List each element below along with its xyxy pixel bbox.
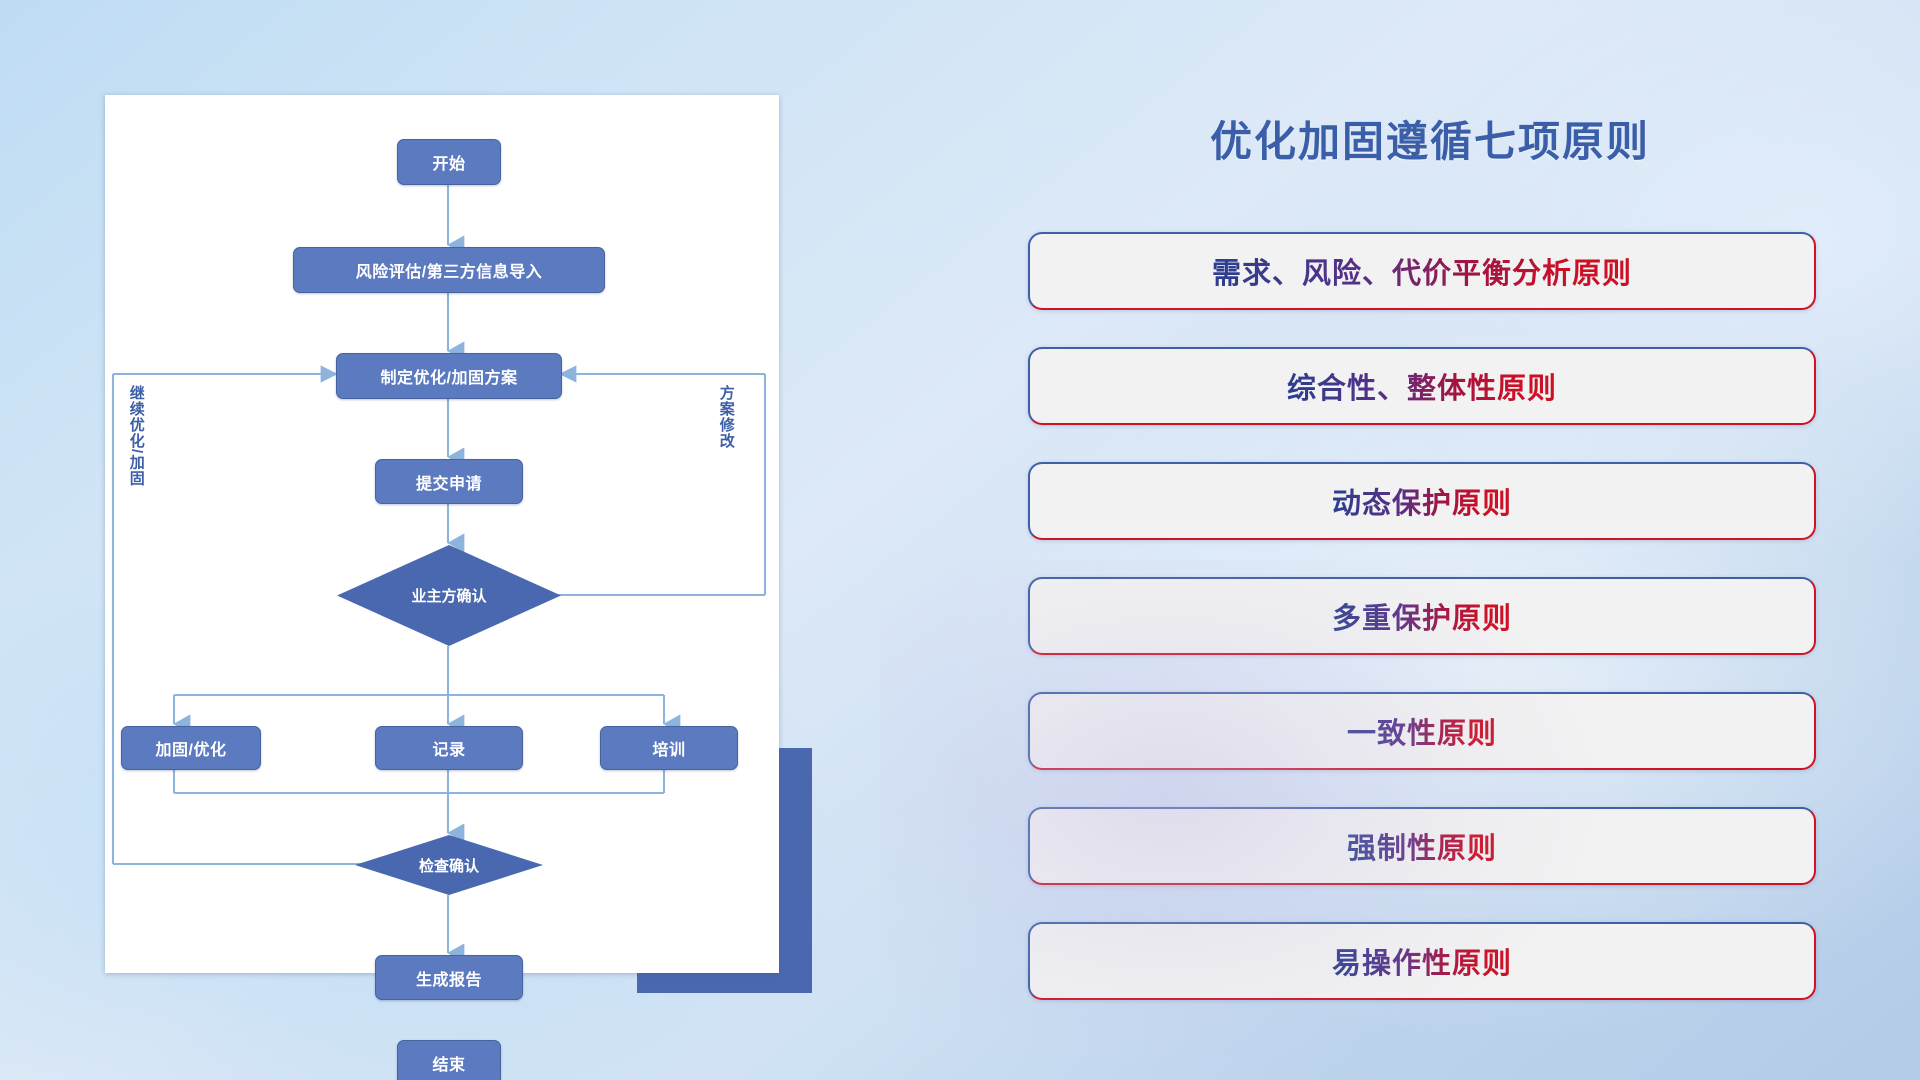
flow-node-record[interactable]: 记录 xyxy=(375,726,523,770)
principle-card-7-label: 易操作性原则 xyxy=(1332,940,1512,982)
principle-card-4-label: 多重保护原则 xyxy=(1332,595,1512,637)
flowchart-inner: 开始 风险评估/第三方信息导入 制定优化/加固方案 提交申请 业主方确认 加固/… xyxy=(105,95,779,973)
flow-node-record-label: 记录 xyxy=(432,736,465,760)
principles-title: 优化加固遵循七项原则 xyxy=(1030,108,1830,169)
principle-card-2[interactable]: 综合性、整体性原则 xyxy=(1028,347,1816,425)
flow-node-end-label: 结束 xyxy=(432,1051,465,1075)
flow-node-generate-report-label: 生成报告 xyxy=(416,966,482,990)
flow-decision-owner-confirm[interactable]: 业主方确认 xyxy=(337,545,561,646)
principle-card-7[interactable]: 易操作性原则 xyxy=(1028,922,1816,1000)
flow-node-reinforce-optimize[interactable]: 加固/优化 xyxy=(121,726,261,770)
principle-card-3[interactable]: 动态保护原则 xyxy=(1028,462,1816,540)
flow-node-plan-label: 制定优化/加固方案 xyxy=(381,364,518,388)
flow-node-plan[interactable]: 制定优化/加固方案 xyxy=(336,353,562,399)
flow-node-submit-application[interactable]: 提交申请 xyxy=(375,459,523,504)
principle-card-5[interactable]: 一致性原则 xyxy=(1028,692,1816,770)
flow-label-continue-optimize: 继续优化/加固 xyxy=(127,385,144,486)
flow-decision-owner-confirm-label: 业主方确认 xyxy=(411,585,486,606)
flow-node-training-label: 培训 xyxy=(652,736,685,760)
principle-card-4[interactable]: 多重保护原则 xyxy=(1028,577,1816,655)
principle-card-6-label: 强制性原则 xyxy=(1347,825,1497,867)
principle-card-5-label: 一致性原则 xyxy=(1347,710,1497,752)
flow-node-risk-assessment[interactable]: 风险评估/第三方信息导入 xyxy=(293,247,605,293)
flow-decision-check-confirm[interactable]: 检查确认 xyxy=(355,835,543,895)
flow-node-submit-application-label: 提交申请 xyxy=(416,470,482,494)
flow-node-risk-assessment-label: 风险评估/第三方信息导入 xyxy=(356,258,542,282)
flow-node-reinforce-optimize-label: 加固/优化 xyxy=(156,736,227,760)
principle-card-3-label: 动态保护原则 xyxy=(1332,480,1512,522)
principle-card-2-label: 综合性、整体性原则 xyxy=(1287,365,1557,407)
principle-card-1[interactable]: 需求、风险、代价平衡分析原则 xyxy=(1028,232,1816,310)
slide-canvas: 开始 风险评估/第三方信息导入 制定优化/加固方案 提交申请 业主方确认 加固/… xyxy=(0,0,1920,1080)
flowchart-card: 开始 风险评估/第三方信息导入 制定优化/加固方案 提交申请 业主方确认 加固/… xyxy=(105,95,779,973)
flow-node-generate-report[interactable]: 生成报告 xyxy=(375,955,523,1000)
principles-list: 需求、风险、代价平衡分析原则 综合性、整体性原则 动态保护原则 多重保护原则 一… xyxy=(1028,232,1816,1000)
principle-card-6[interactable]: 强制性原则 xyxy=(1028,807,1816,885)
principle-card-1-label: 需求、风险、代价平衡分析原则 xyxy=(1212,250,1632,292)
flow-node-start-label: 开始 xyxy=(432,150,465,174)
flow-node-training[interactable]: 培训 xyxy=(600,726,738,770)
flow-label-plan-revision: 方案修改 xyxy=(717,385,734,449)
flow-node-start[interactable]: 开始 xyxy=(397,139,501,185)
flow-decision-check-confirm-label: 检查确认 xyxy=(419,855,479,876)
flow-node-end[interactable]: 结束 xyxy=(397,1040,501,1080)
